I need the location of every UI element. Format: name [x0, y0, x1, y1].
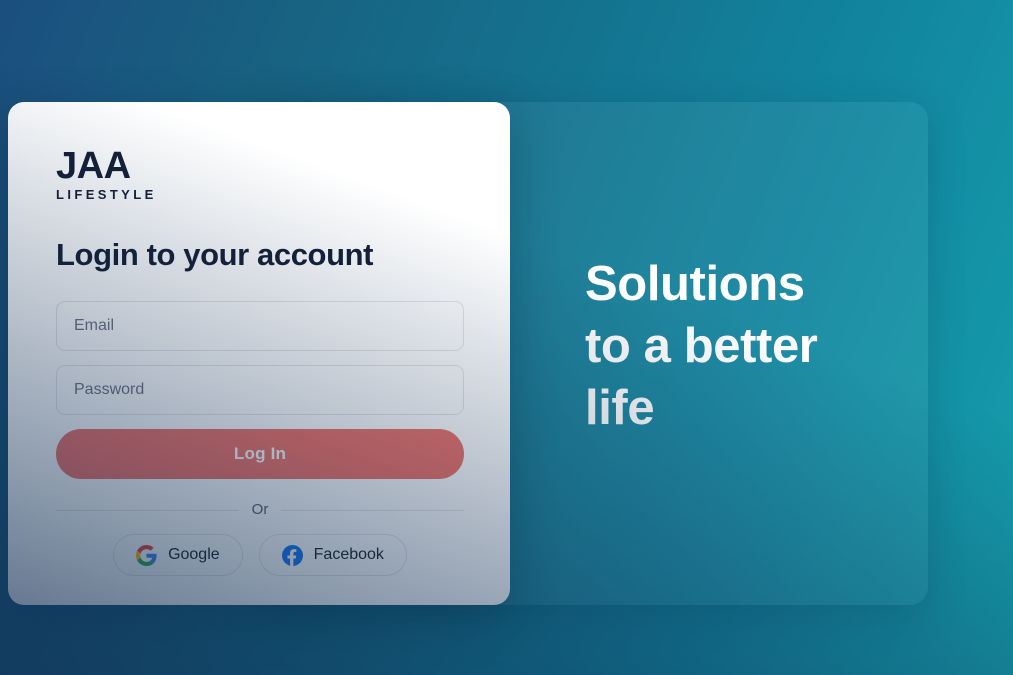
email-field[interactable]	[56, 301, 464, 351]
social-login-row: Google Facebook	[56, 534, 464, 576]
or-divider: Or	[56, 502, 464, 518]
hero-tagline-line-2: to a better	[585, 315, 915, 377]
facebook-icon	[282, 545, 303, 566]
google-icon	[136, 545, 157, 566]
login-button[interactable]: Log In	[56, 429, 464, 479]
hero-tagline-line-3: life	[585, 377, 915, 439]
login-page: Solutions to a better life JAA LIFESTYLE…	[0, 0, 1013, 675]
login-card: JAA LIFESTYLE Login to your account Log …	[8, 102, 510, 605]
divider-rule-right	[281, 510, 464, 511]
brand-logo-name: JAA	[56, 146, 466, 186]
divider-rule-left	[56, 510, 239, 511]
google-login-button[interactable]: Google	[113, 534, 243, 576]
page-title: Login to your account	[56, 237, 466, 273]
password-field[interactable]	[56, 365, 464, 415]
facebook-login-label: Facebook	[314, 546, 384, 564]
google-login-label: Google	[168, 546, 220, 564]
brand-logo: JAA LIFESTYLE	[56, 146, 466, 203]
hero-tagline: Solutions to a better life	[585, 253, 915, 439]
brand-logo-tagline: LIFESTYLE	[56, 187, 466, 203]
divider-label: Or	[239, 502, 282, 518]
facebook-login-button[interactable]: Facebook	[259, 534, 407, 576]
hero-tagline-line-1: Solutions	[585, 253, 915, 315]
